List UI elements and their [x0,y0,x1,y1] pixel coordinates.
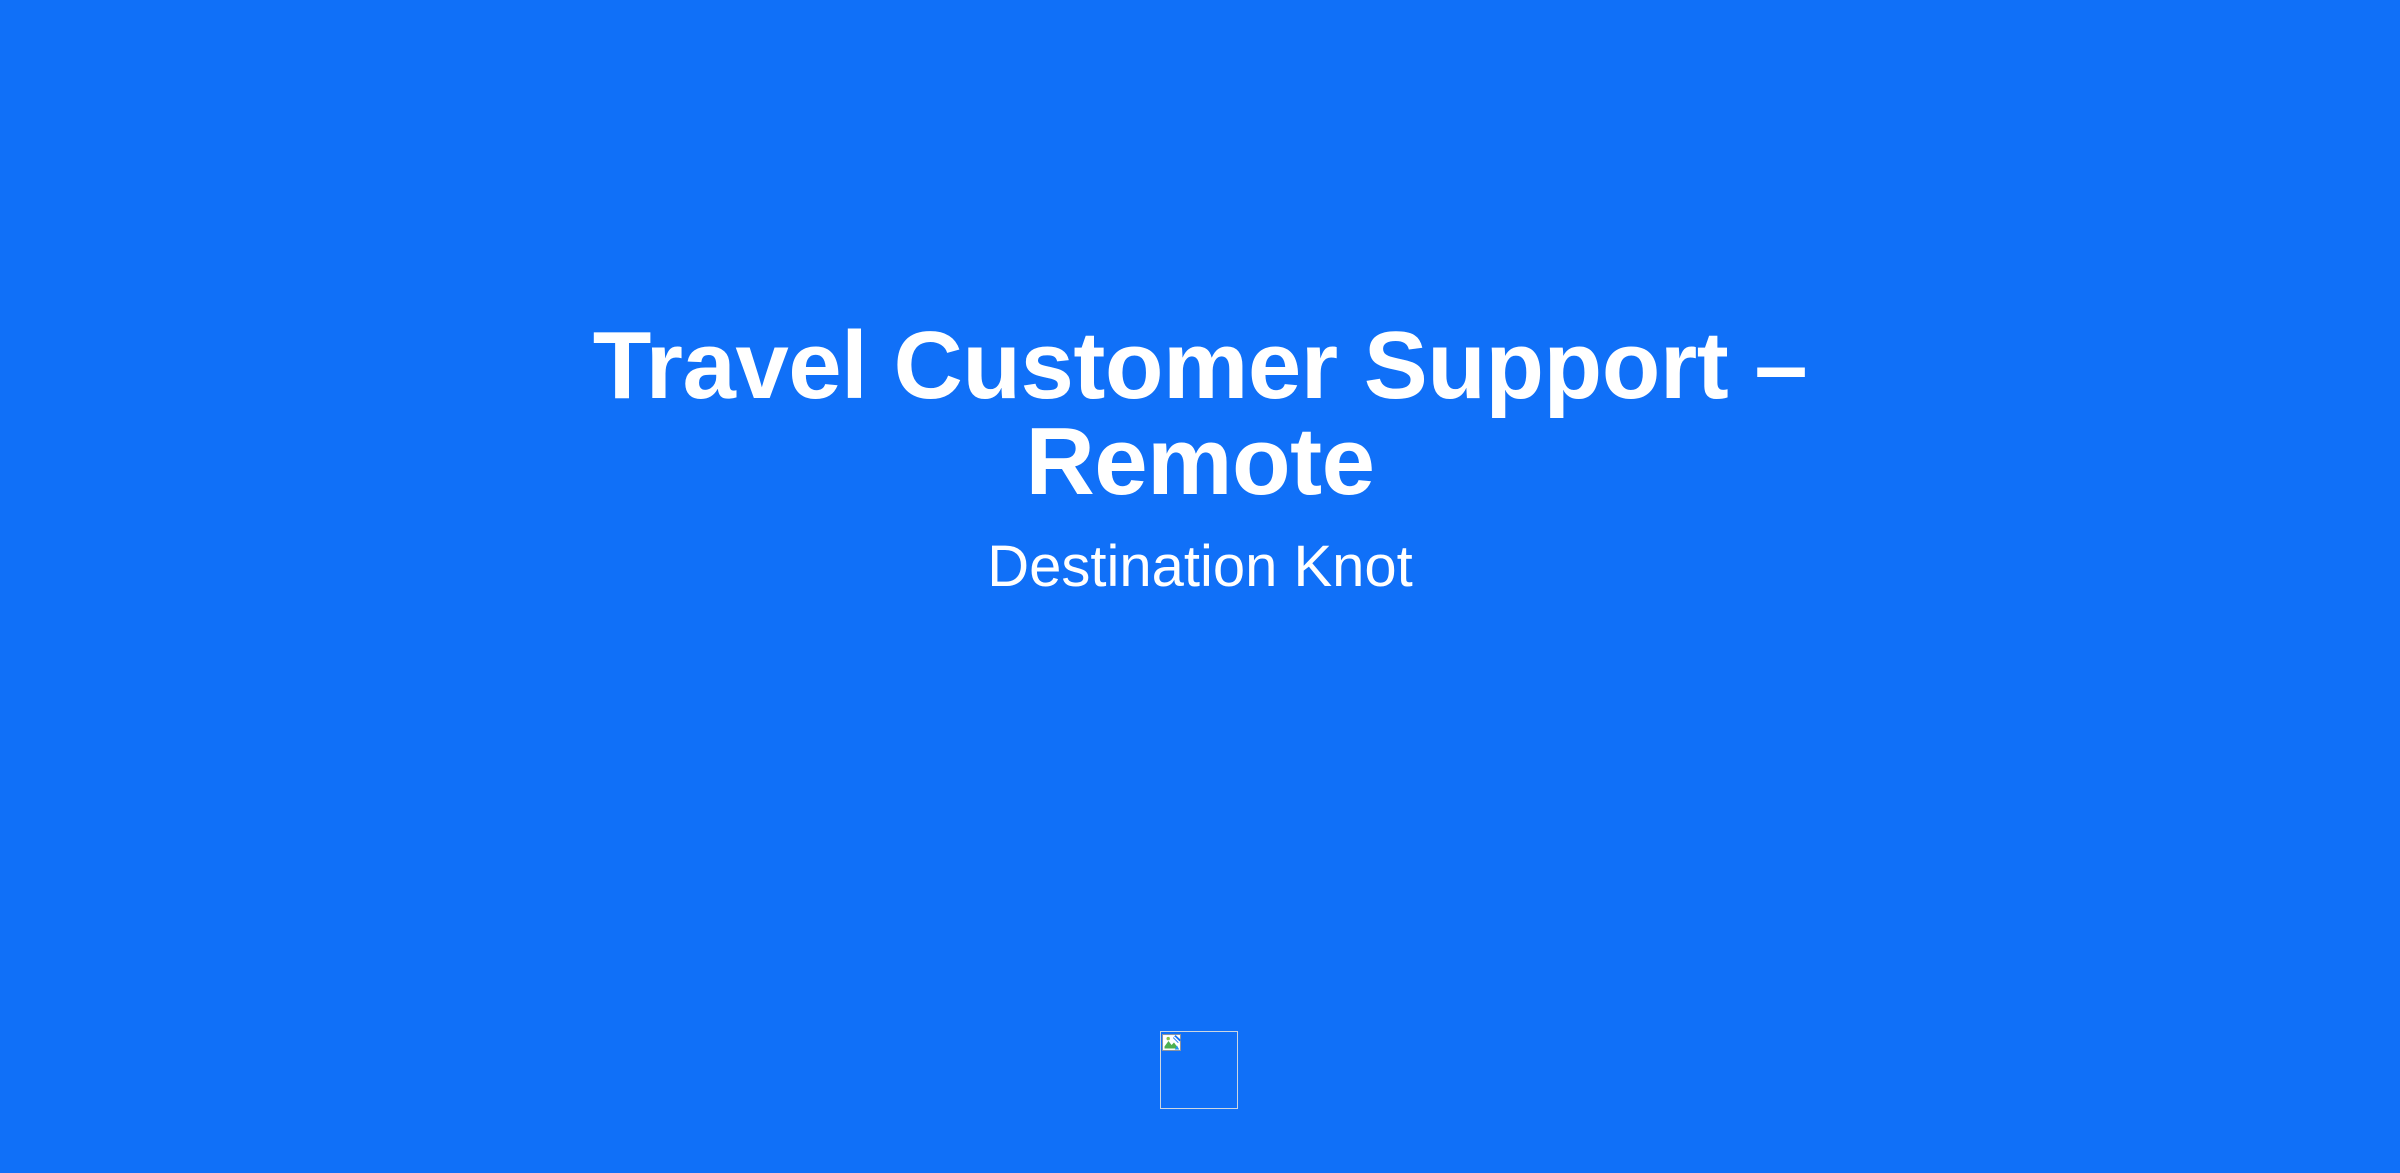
image-placeholder [1160,1031,1238,1109]
slide-subtitle: Destination Knot [300,536,2100,599]
page-title: Travel Customer Support – Remote [465,318,1935,510]
broken-image-icon [1162,1033,1183,1054]
title-block: Travel Customer Support – Remote Destina… [0,0,2400,599]
slide-canvas: Travel Customer Support – Remote Destina… [0,0,2400,1173]
